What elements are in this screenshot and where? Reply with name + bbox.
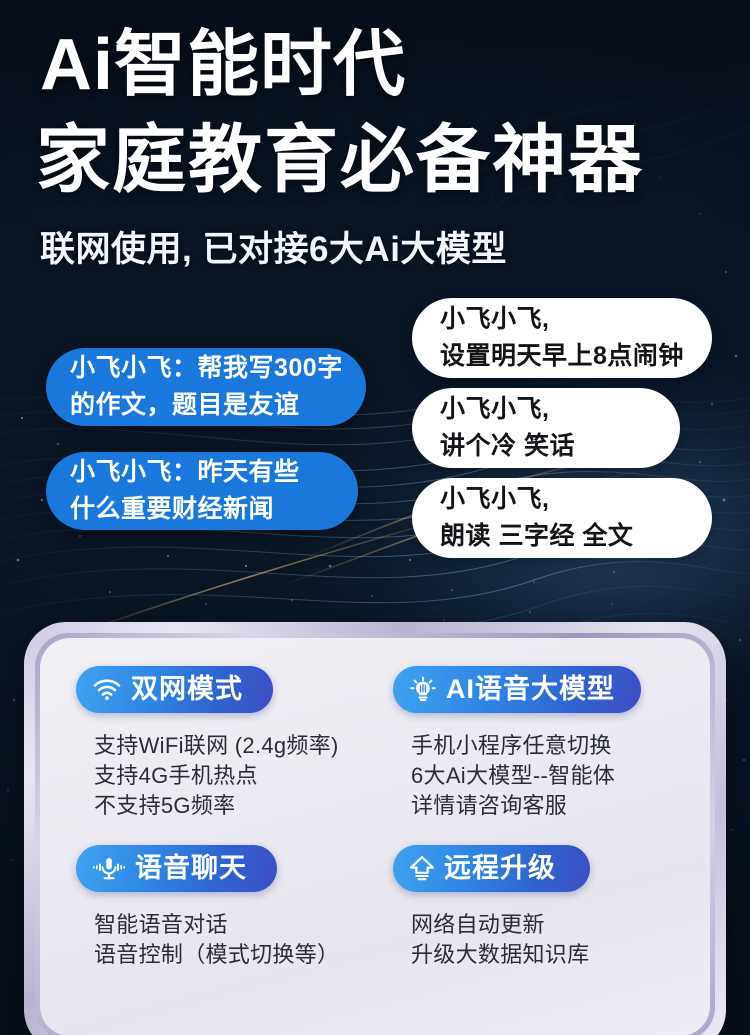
feature-line: 网络自动更新 <box>411 910 589 940</box>
feature-line: 语音控制（模式切换等） <box>94 940 339 970</box>
feature-line: 不支持5G频率 <box>94 791 339 821</box>
upload-arrow-icon <box>409 855 435 881</box>
chat-bubble-line: 小飞小飞：昨天有些 <box>70 454 336 491</box>
page-subtitle: 联网使用, 已对接6大Ai大模型 <box>40 228 507 272</box>
feature-badge-label: AI语音大模型 <box>446 673 615 705</box>
chat-bubble-line: 的作文，题目是友谊 <box>70 387 344 424</box>
chat-bubble-line: 小飞小飞, <box>440 301 686 338</box>
feature-badge-voice-chat: 语音聊天 <box>76 845 277 892</box>
feature-description-ai-voice-model: 手机小程序任意切换 6大Ai大模型--智能体 详情请咨询客服 <box>411 731 615 821</box>
chat-bubble-joke: 小飞小飞, 讲个冷 笑话 <box>412 388 680 468</box>
wifi-icon <box>92 677 122 701</box>
feature-badge-dual-network: 双网模式 <box>76 666 273 713</box>
feature-line: 支持WiFi联网 (2.4g频率) <box>94 731 339 761</box>
chat-bubble-line: 讲个冷 笑话 <box>440 428 654 465</box>
chat-bubble-line: 朗读 三字经 全文 <box>440 518 686 555</box>
device-card: 双网模式 支持WiFi联网 (2.4g频率) 支持4G手机热点 不支持5G频率 <box>24 622 726 1035</box>
page-title-line-2: 家庭教育必备神器 <box>36 118 644 202</box>
chat-bubble-alarm: 小飞小飞, 设置明天早上8点闹钟 <box>412 298 712 378</box>
chat-bubble-essay: 小飞小飞：帮我写300字 的作文，题目是友谊 <box>46 348 366 426</box>
page-title-line-1: Ai智能时代 <box>40 24 406 106</box>
feature-badge-ai-voice-model: AI语音大模型 <box>393 666 641 713</box>
feature-voice-chat: 语音聊天 智能语音对话 语音控制（模式切换等） <box>76 845 377 1016</box>
feature-line: 支持4G手机热点 <box>94 761 339 791</box>
chat-bubble-news: 小飞小飞：昨天有些 什么重要财经新闻 <box>46 452 358 530</box>
feature-line: 手机小程序任意切换 <box>411 731 615 761</box>
chat-bubble-line: 小飞小飞, <box>440 481 686 518</box>
microphone-icon <box>92 855 126 881</box>
feature-badge-remote-upgrade: 远程升级 <box>393 845 590 892</box>
feature-line: 6大Ai大模型--智能体 <box>411 761 615 791</box>
feature-badge-label: 语音聊天 <box>135 852 247 884</box>
feature-description-voice-chat: 智能语音对话 语音控制（模式切换等） <box>94 910 339 970</box>
feature-line: 智能语音对话 <box>94 910 339 940</box>
chat-bubble-line: 小飞小飞：帮我写300字 <box>70 350 344 387</box>
device-bezel: 双网模式 支持WiFi联网 (2.4g频率) 支持4G手机热点 不支持5G频率 <box>35 633 715 1035</box>
promo-page: Ai智能时代 家庭教育必备神器 联网使用, 已对接6大Ai大模型 小飞小飞：帮我… <box>0 0 750 1035</box>
feature-grid: 双网模式 支持WiFi联网 (2.4g频率) 支持4G手机热点 不支持5G频率 <box>40 638 710 1035</box>
feature-badge-label: 远程升级 <box>444 852 556 884</box>
feature-dual-network: 双网模式 支持WiFi联网 (2.4g频率) 支持4G手机热点 不支持5G频率 <box>76 666 377 837</box>
feature-line: 升级大数据知识库 <box>411 940 589 970</box>
chat-bubble-line: 设置明天早上8点闹钟 <box>440 338 686 375</box>
feature-description-dual-network: 支持WiFi联网 (2.4g频率) 支持4G手机热点 不支持5G频率 <box>94 731 339 821</box>
feature-badge-label: 双网模式 <box>131 673 243 705</box>
feature-description-remote-upgrade: 网络自动更新 升级大数据知识库 <box>411 910 589 970</box>
feature-ai-voice-model: AI语音大模型 手机小程序任意切换 6大Ai大模型--智能体 详情请咨询客服 <box>383 666 684 837</box>
feature-remote-upgrade: 远程升级 网络自动更新 升级大数据知识库 <box>383 845 684 1016</box>
chat-bubble-reading: 小飞小飞, 朗读 三字经 全文 <box>412 478 712 558</box>
feature-line: 详情请咨询客服 <box>411 791 615 821</box>
chat-bubble-line: 什么重要财经新闻 <box>70 491 336 528</box>
lightbulb-icon <box>409 676 437 702</box>
device-screen: 双网模式 支持WiFi联网 (2.4g频率) 支持4G手机热点 不支持5G频率 <box>40 638 710 1035</box>
chat-bubble-line: 小飞小飞, <box>440 391 654 428</box>
